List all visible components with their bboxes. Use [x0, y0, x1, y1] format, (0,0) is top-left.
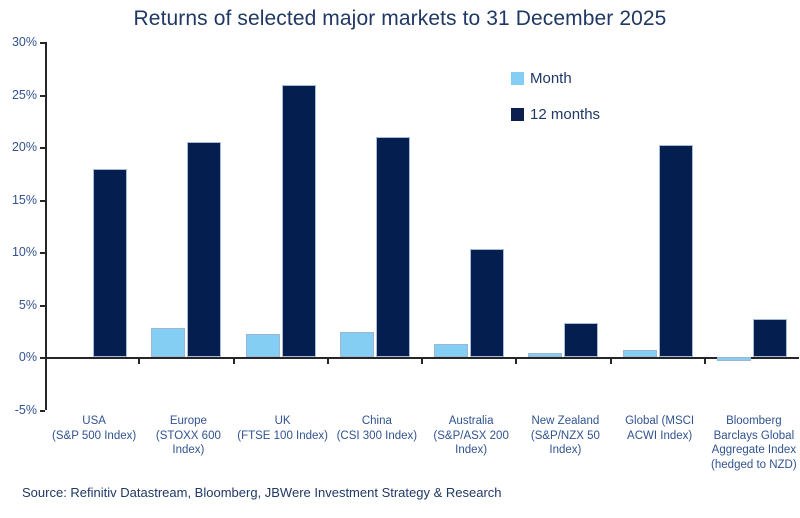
- x-tick-mark: [327, 359, 329, 364]
- category-label-line: Index): [137, 443, 239, 458]
- category-label-line: ACWI Index): [609, 429, 711, 444]
- x-axis-category-label: USA(S&P 500 Index): [43, 414, 145, 443]
- x-tick-mark: [138, 359, 140, 364]
- bar-12-months: [470, 249, 504, 357]
- category-label-line: Index): [514, 443, 616, 458]
- x-axis-category-label: Europe(STOXX 600Index): [137, 414, 239, 458]
- bar-month: [340, 332, 374, 357]
- bar-12-months: [376, 137, 410, 358]
- category-label-line: Europe: [137, 414, 239, 429]
- x-axis-category-labels: USA(S&P 500 Index)Europe(STOXX 600Index)…: [47, 414, 799, 484]
- legend-label-month: Month: [530, 70, 572, 87]
- legend-entry-month: Month: [511, 60, 691, 96]
- bar-12-months: [187, 142, 221, 358]
- category-label-line: (S&P/ASX 200: [420, 429, 522, 444]
- y-tick-label: 20%: [12, 140, 37, 154]
- bar-12-months: [564, 323, 598, 358]
- category-label-line: New Zealand: [514, 414, 616, 429]
- chart-legend: Month 12 months: [511, 60, 691, 132]
- source-note: Source: Refinitiv Datastream, Bloomberg,…: [22, 485, 502, 500]
- category-label-line: USA: [43, 414, 145, 429]
- category-label-line: Aggregate Index: [703, 443, 800, 458]
- y-tick-label: 10%: [12, 245, 37, 259]
- category-label-line: (hedged to NZD): [703, 458, 800, 473]
- y-tick-mark: [40, 410, 45, 412]
- x-tick-mark: [610, 359, 612, 364]
- category-label-line: (CSI 300 Index): [326, 429, 428, 444]
- bar-month: [151, 328, 185, 357]
- y-tick-mark: [40, 305, 45, 307]
- y-tick-mark: [40, 252, 45, 254]
- x-tick-mark: [421, 359, 423, 364]
- y-tick-label: 15%: [12, 193, 37, 207]
- y-axis-line: [45, 42, 47, 410]
- x-axis-category-label: UK(FTSE 100 Index): [232, 414, 334, 443]
- x-axis-category-label: Global (MSCIACWI Index): [609, 414, 711, 443]
- y-tick-label: 30%: [12, 35, 37, 49]
- y-tick-mark: [40, 357, 45, 359]
- category-label-line: Global (MSCI: [609, 414, 711, 429]
- category-label-line: Bloomberg: [703, 414, 800, 429]
- category-label-line: UK: [232, 414, 334, 429]
- legend-swatch-month-icon: [511, 72, 524, 85]
- bar-month: [623, 350, 657, 357]
- bar-12-months: [282, 85, 316, 357]
- y-tick-mark: [40, 147, 45, 149]
- y-tick-label: 0%: [19, 350, 37, 364]
- bar-12-months: [659, 145, 693, 357]
- bar-month: [246, 334, 280, 357]
- returns-bar-chart: Returns of selected major markets to 31 …: [0, 0, 800, 518]
- category-label-line: (STOXX 600: [137, 429, 239, 444]
- bar-month: [434, 344, 468, 358]
- x-tick-mark: [515, 359, 517, 364]
- bar-month: [717, 357, 751, 360]
- x-axis-category-label: China(CSI 300 Index): [326, 414, 428, 443]
- category-label-line: (S&P/NZX 50: [514, 429, 616, 444]
- x-tick-mark: [704, 359, 706, 364]
- category-label-line: Index): [420, 443, 522, 458]
- category-label-line: (S&P 500 Index): [43, 429, 145, 444]
- x-axis-category-label: BloombergBarclays GlobalAggregate Index(…: [703, 414, 800, 472]
- category-label-line: Barclays Global: [703, 429, 800, 444]
- bar-12-months: [93, 169, 127, 357]
- bar-12-months: [753, 319, 787, 358]
- legend-swatch-12-months-icon: [511, 108, 524, 121]
- category-label-line: China: [326, 414, 428, 429]
- bar-month: [528, 353, 562, 357]
- x-tick-mark: [233, 359, 235, 364]
- y-tick-label: -5%: [15, 403, 37, 417]
- category-label-line: Australia: [420, 414, 522, 429]
- y-tick-mark: [40, 95, 45, 97]
- x-axis-category-label: Australia(S&P/ASX 200Index): [420, 414, 522, 458]
- y-tick-mark: [40, 42, 45, 44]
- y-tick-label: 25%: [12, 88, 37, 102]
- x-axis-category-label: New Zealand(S&P/NZX 50Index): [514, 414, 616, 458]
- legend-entry-12-months: 12 months: [511, 96, 691, 132]
- y-tick-mark: [40, 200, 45, 202]
- chart-title: Returns of selected major markets to 31 …: [0, 7, 800, 31]
- y-tick-label: 5%: [19, 298, 37, 312]
- legend-label-12-months: 12 months: [530, 106, 600, 123]
- category-label-line: (FTSE 100 Index): [232, 429, 334, 444]
